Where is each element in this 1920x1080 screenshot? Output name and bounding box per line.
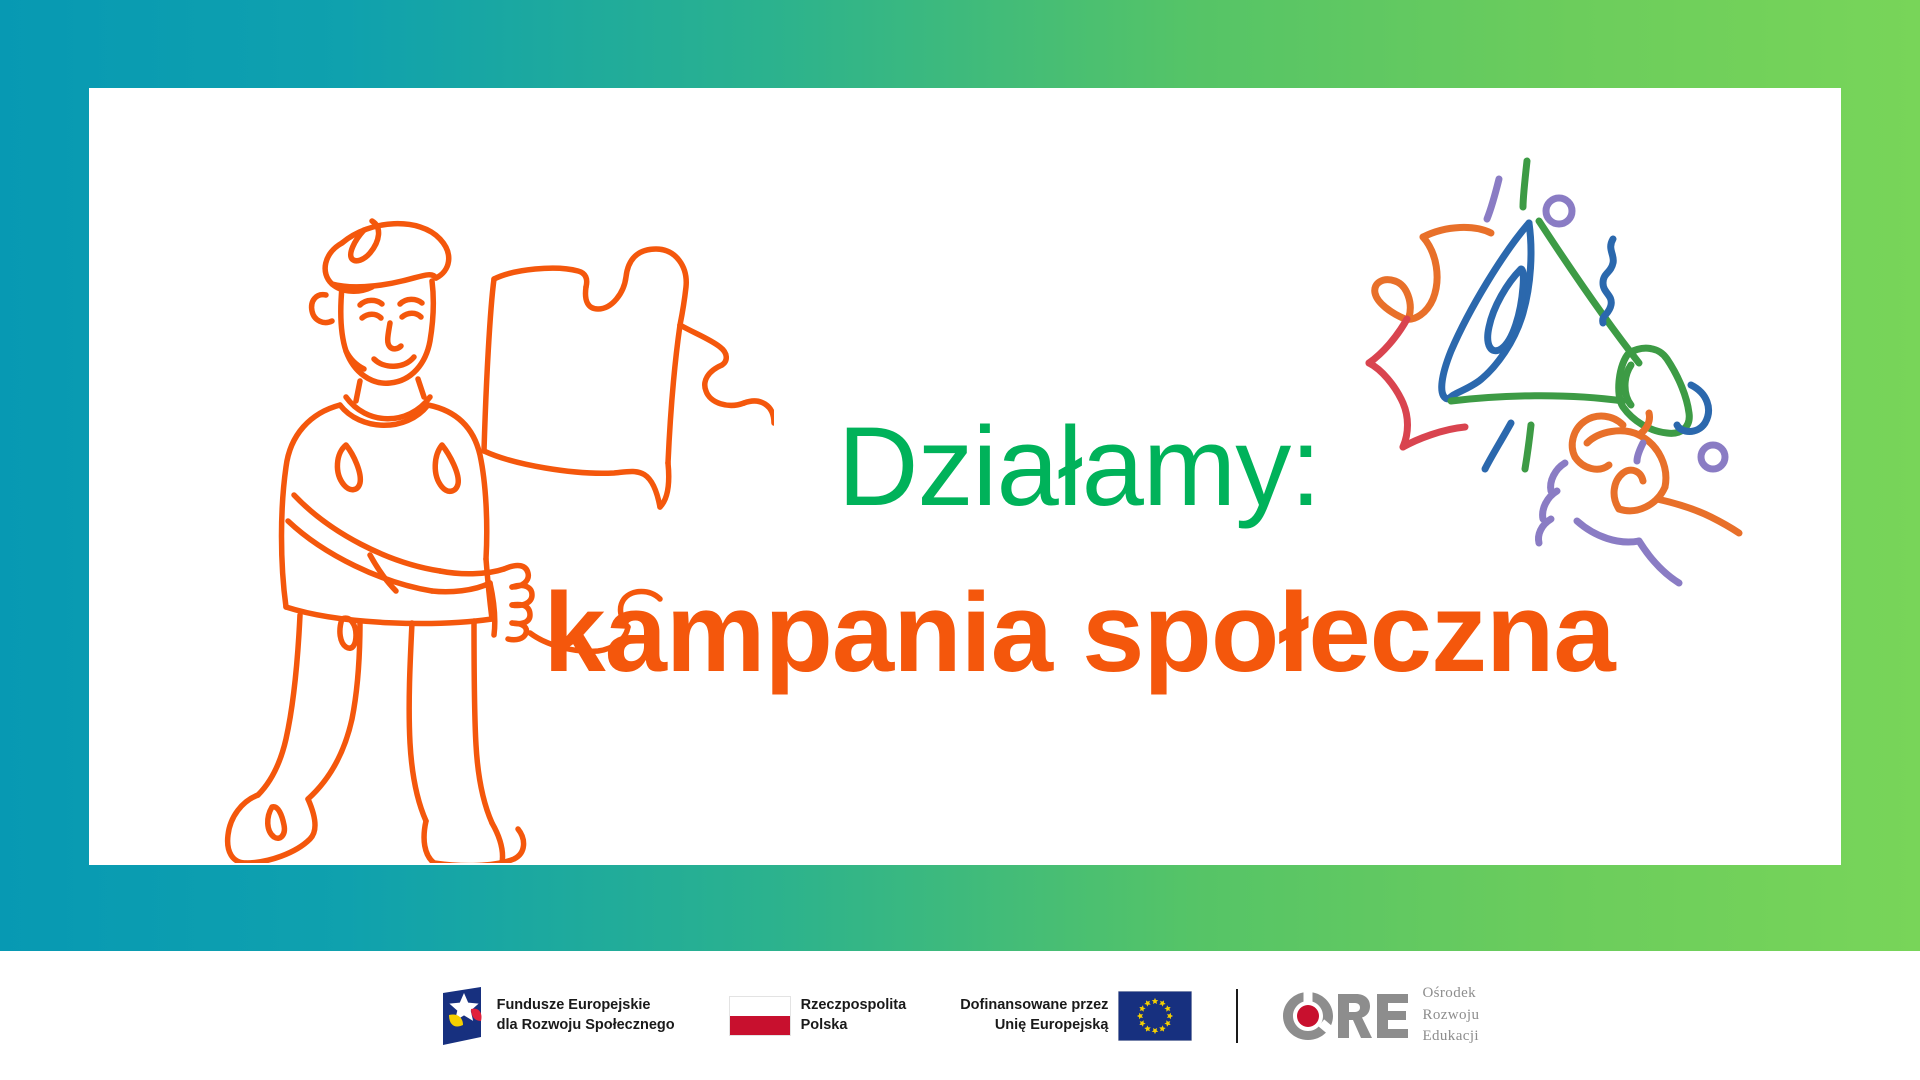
european-union-flag-icon	[1118, 991, 1192, 1041]
headline-block: Działamy: kampania społeczna	[389, 408, 1769, 691]
ore-tagline-line-2: Rozwoju	[1422, 1005, 1479, 1027]
unia-label: Dofinansowane przez Unię Europejską	[960, 996, 1108, 1035]
fundusze-europejskie-label: Fundusze Europejskie dla Rozwoju Społecz…	[497, 996, 675, 1035]
ore-tagline-line-1: Ośrodek	[1422, 983, 1479, 1005]
fundusze-europejskie-logo: Fundusze Europejskie dla Rozwoju Społecz…	[441, 987, 675, 1045]
fundusze-europejskie-mark-icon	[441, 987, 487, 1045]
white-content-panel: Działamy: kampania społeczna	[89, 88, 1841, 865]
slide-title-main: Działamy:	[389, 408, 1769, 526]
poland-flag-icon	[729, 996, 791, 1036]
fundusze-line-1: Fundusze Europejskie	[497, 996, 675, 1016]
poland-flag-white-stripe	[730, 997, 790, 1016]
unia-line-2: Unię Europejską	[960, 1016, 1108, 1036]
unia-line-1: Dofinansowane przez	[960, 996, 1108, 1016]
ore-logo: Ośrodek Rozwoju Edukacji	[1282, 983, 1479, 1048]
footer-logo-row: Fundusze Europejskie dla Rozwoju Społecz…	[0, 951, 1920, 1080]
footer-logo-bar: Fundusze Europejskie dla Rozwoju Społecz…	[0, 951, 1920, 1080]
ore-tagline: Ośrodek Rozwoju Edukacji	[1422, 983, 1479, 1048]
rzeczpospolita-polska-logo: Rzeczpospolita Polska	[729, 996, 907, 1036]
ore-tagline-line-3: Edukacji	[1422, 1026, 1479, 1048]
footer-divider	[1236, 989, 1238, 1043]
rzeczpospolita-line-2: Polska	[801, 1016, 907, 1036]
poland-flag-red-stripe	[730, 1016, 790, 1035]
slide-title-subtitle: kampania społeczna	[389, 574, 1769, 692]
unia-europejska-logo: Dofinansowane przez Unię Europejską	[960, 991, 1192, 1041]
rzeczpospolita-line-1: Rzeczpospolita	[801, 996, 907, 1016]
rzeczpospolita-label: Rzeczpospolita Polska	[801, 996, 907, 1035]
slide-canvas: Działamy: kampania społeczna Fundusze Eu…	[0, 0, 1920, 1080]
ore-wordmark-icon	[1282, 990, 1410, 1042]
fundusze-line-2: dla Rozwoju Społecznego	[497, 1016, 675, 1036]
